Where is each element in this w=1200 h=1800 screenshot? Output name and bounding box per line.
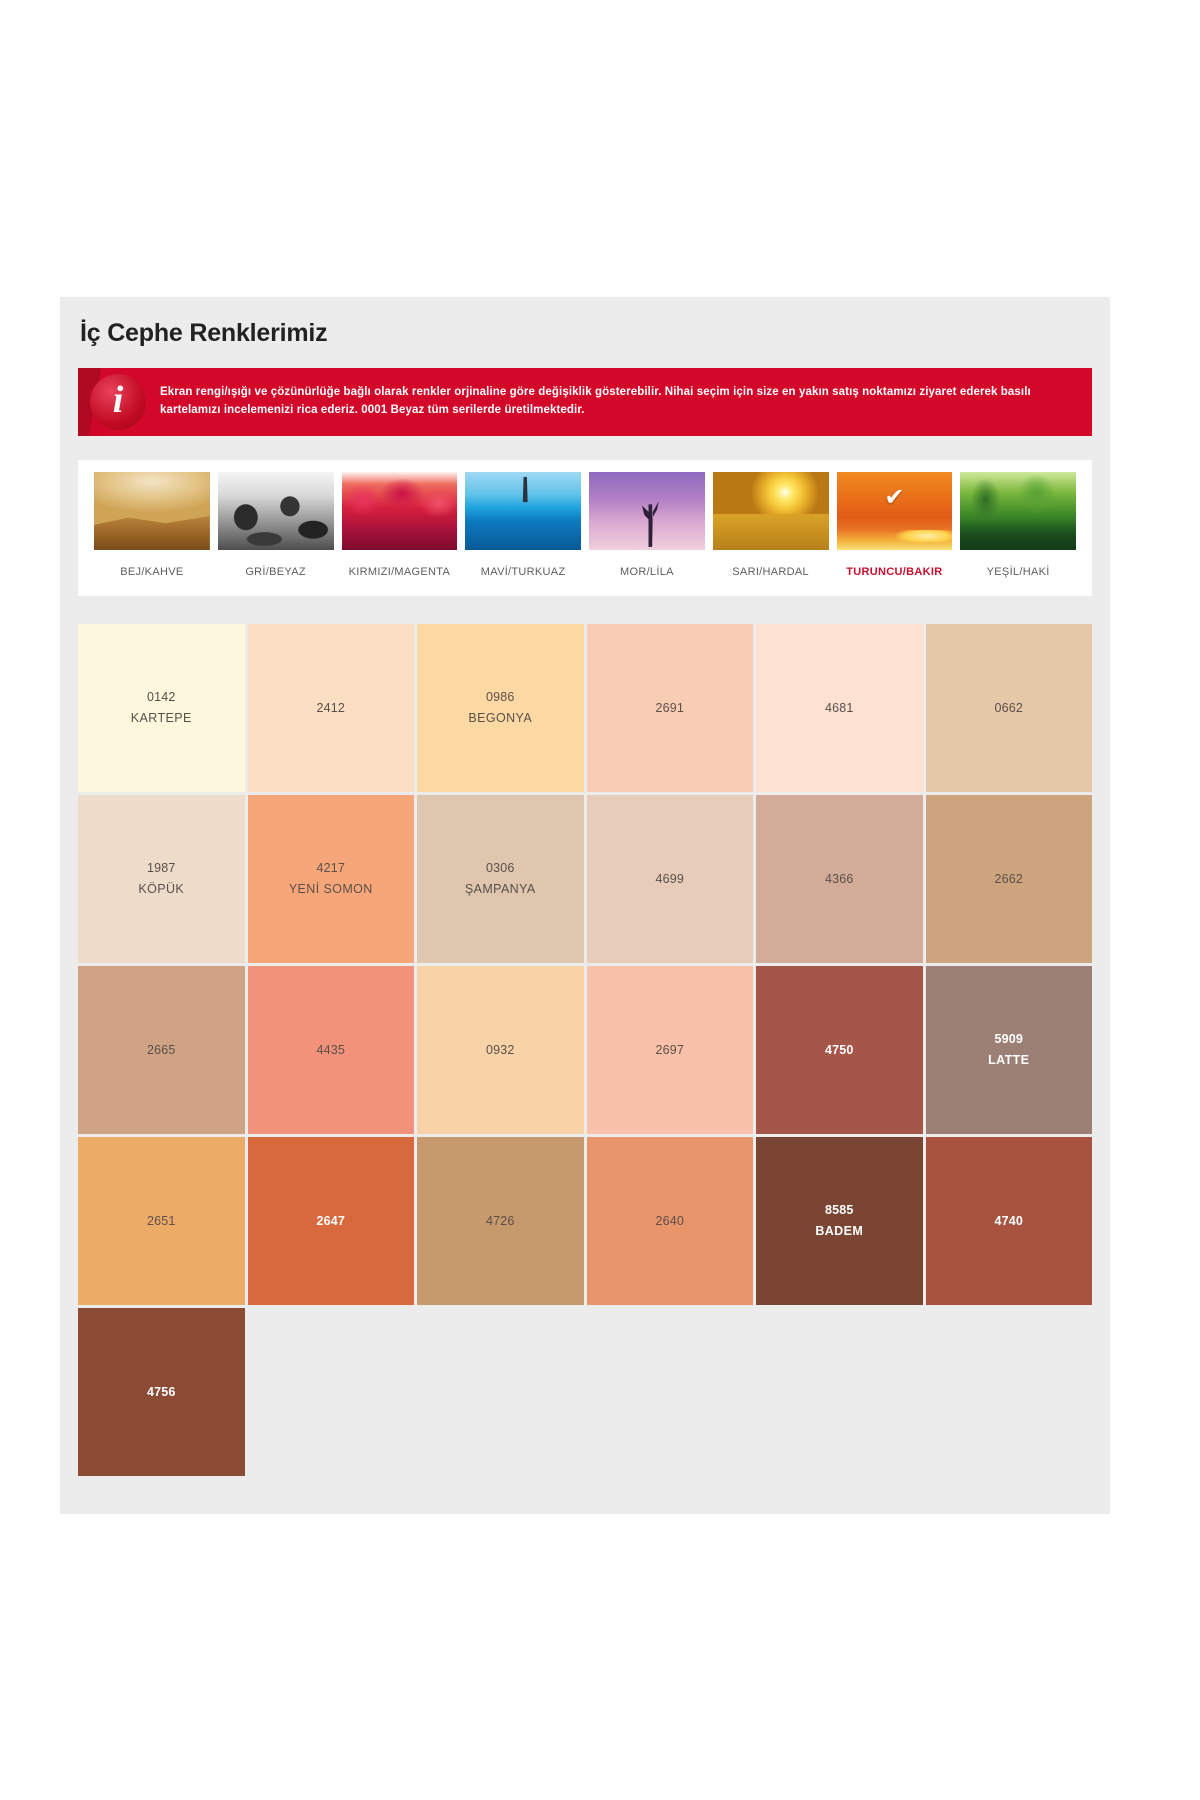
desert-camels-thumb <box>94 472 210 550</box>
category-label: MAVİ/TURKUAZ <box>481 550 566 596</box>
color-card: İç Cephe Renklerimiz i Ekran rengi/ışığı… <box>60 297 1110 1514</box>
color-swatch[interactable]: 2647 <box>248 1137 415 1305</box>
color-swatch[interactable]: 4217YENİ SOMON <box>248 795 415 963</box>
swatch-code: 2651 <box>147 1211 176 1232</box>
swatch-code: 2640 <box>655 1211 684 1232</box>
disclaimer-line-1: Ekran rengi/ışığı ve çözünürlüğe bağlı o… <box>160 384 1031 402</box>
color-swatch[interactable]: 4740 <box>926 1137 1093 1305</box>
color-swatch[interactable]: 4435 <box>248 966 415 1134</box>
swatch-name: KÖPÜK <box>138 879 184 900</box>
category-tab-yesil-haki[interactable]: YEŞİL/HAKİ <box>956 472 1080 596</box>
swatch-code: 4740 <box>994 1211 1023 1232</box>
category-tab-gri-beyaz[interactable]: GRİ/BEYAZ <box>214 472 338 596</box>
color-swatch[interactable]: 2412 <box>248 624 415 792</box>
swatch-code: 5909 <box>994 1029 1023 1050</box>
swatch-code: 1987 <box>147 858 176 879</box>
purple-sky-tree-thumb <box>589 472 705 550</box>
disclaimer-banner: i Ekran rengi/ışığı ve çözünürlüğe bağlı… <box>78 368 1092 436</box>
category-label: YEŞİL/HAKİ <box>987 550 1050 596</box>
swatch-code: 2691 <box>655 698 684 719</box>
check-icon: ✔ <box>837 486 953 510</box>
swatch-code: 0306 <box>486 858 515 879</box>
disclaimer-text: Ekran rengi/ışığı ve çözünürlüğe bağlı o… <box>160 384 1049 420</box>
swatch-name: ŞAMPANYA <box>465 879 536 900</box>
swatch-code: 4726 <box>486 1211 515 1232</box>
disclaimer-line-2: kartelamızı incelemenizi rica ederiz. 00… <box>160 402 1031 420</box>
swatch-code: 2412 <box>316 698 345 719</box>
swatch-code: 0932 <box>486 1040 515 1061</box>
grid-bottom-spacer <box>78 1476 1092 1514</box>
swatch-code: 8585 <box>825 1200 854 1221</box>
swatch-grid-wrapper: 0142KARTEPE24120986BEGONYA26914681066219… <box>60 624 1110 1514</box>
info-icon: i <box>90 374 146 430</box>
category-label: SARI/HARDAL <box>732 550 809 596</box>
color-swatch[interactable]: 0932 <box>417 966 584 1134</box>
color-swatch[interactable]: 2665 <box>78 966 245 1134</box>
swatch-code: 4756 <box>147 1382 176 1403</box>
color-swatch[interactable]: 4750 <box>756 966 923 1134</box>
swatch-code: 4217 <box>316 858 345 879</box>
category-tab-mor-lila[interactable]: MOR/LİLA <box>585 472 709 596</box>
swatch-code: 4699 <box>655 869 684 890</box>
swatch-name: LATTE <box>988 1050 1029 1071</box>
category-tabs: BEJ/KAHVE GRİ/BEYAZ KIRMIZI/MAGENTA MAVİ… <box>78 460 1092 596</box>
color-swatch[interactable]: 2651 <box>78 1137 245 1305</box>
swatch-code: 2665 <box>147 1040 176 1061</box>
swatch-name: YENİ SOMON <box>289 879 373 900</box>
swatch-code: 4750 <box>825 1040 854 1061</box>
category-tab-turuncu-bakir[interactable]: ✔ TURUNCU/BAKIR <box>833 472 957 596</box>
color-swatch[interactable]: 4726 <box>417 1137 584 1305</box>
swatch-code: 4435 <box>316 1040 345 1061</box>
swatch-code: 0142 <box>147 687 176 708</box>
swatch-code: 4681 <box>825 698 854 719</box>
grey-stones-thumb <box>218 472 334 550</box>
orange-sunset-thumb: ✔ <box>837 472 953 550</box>
color-swatch[interactable]: 4756 <box>78 1308 245 1476</box>
swatch-code: 2647 <box>316 1211 345 1232</box>
color-swatch[interactable]: 8585BADEM <box>756 1137 923 1305</box>
swatch-name: BEGONYA <box>468 708 532 729</box>
color-swatch[interactable]: 4366 <box>756 795 923 963</box>
color-swatch[interactable]: 2697 <box>587 966 754 1134</box>
color-swatch[interactable]: 1987KÖPÜK <box>78 795 245 963</box>
color-swatch[interactable]: 4699 <box>587 795 754 963</box>
page-root: İç Cephe Renklerimiz i Ekran rengi/ışığı… <box>0 0 1200 1800</box>
swatch-code: 0986 <box>486 687 515 708</box>
blue-sea-boat-thumb <box>465 472 581 550</box>
swatch-code: 4366 <box>825 869 854 890</box>
yellow-sunset-field-thumb <box>713 472 829 550</box>
category-label: KIRMIZI/MAGENTA <box>349 550 450 596</box>
category-label: BEJ/KAHVE <box>120 550 183 596</box>
color-swatch[interactable]: 0986BEGONYA <box>417 624 584 792</box>
color-swatch[interactable]: 2640 <box>587 1137 754 1305</box>
color-swatch[interactable]: 0142KARTEPE <box>78 624 245 792</box>
color-swatch[interactable]: 2662 <box>926 795 1093 963</box>
category-label: MOR/LİLA <box>620 550 674 596</box>
category-tab-mavi-turkuaz[interactable]: MAVİ/TURKUAZ <box>461 472 585 596</box>
category-tab-bej-kahve[interactable]: BEJ/KAHVE <box>90 472 214 596</box>
red-autumn-trees-thumb <box>342 472 458 550</box>
color-swatch[interactable]: 2691 <box>587 624 754 792</box>
swatch-name: BADEM <box>815 1221 863 1242</box>
swatch-code: 2697 <box>655 1040 684 1061</box>
color-swatch[interactable]: 0662 <box>926 624 1093 792</box>
color-swatch[interactable]: 4681 <box>756 624 923 792</box>
category-label: GRİ/BEYAZ <box>245 550 306 596</box>
swatch-grid: 0142KARTEPE24120986BEGONYA26914681066219… <box>78 624 1092 1476</box>
swatch-code: 0662 <box>994 698 1023 719</box>
swatch-code: 2662 <box>994 869 1023 890</box>
category-label-active: TURUNCU/BAKIR <box>846 550 942 596</box>
green-forest-thumb <box>960 472 1076 550</box>
category-tab-sari-hardal[interactable]: SARI/HARDAL <box>709 472 833 596</box>
category-tab-kirmizi-magenta[interactable]: KIRMIZI/MAGENTA <box>338 472 462 596</box>
page-title: İç Cephe Renklerimiz <box>60 297 1110 368</box>
color-swatch[interactable]: 0306ŞAMPANYA <box>417 795 584 963</box>
swatch-name: KARTEPE <box>131 708 192 729</box>
color-swatch[interactable]: 5909LATTE <box>926 966 1093 1134</box>
